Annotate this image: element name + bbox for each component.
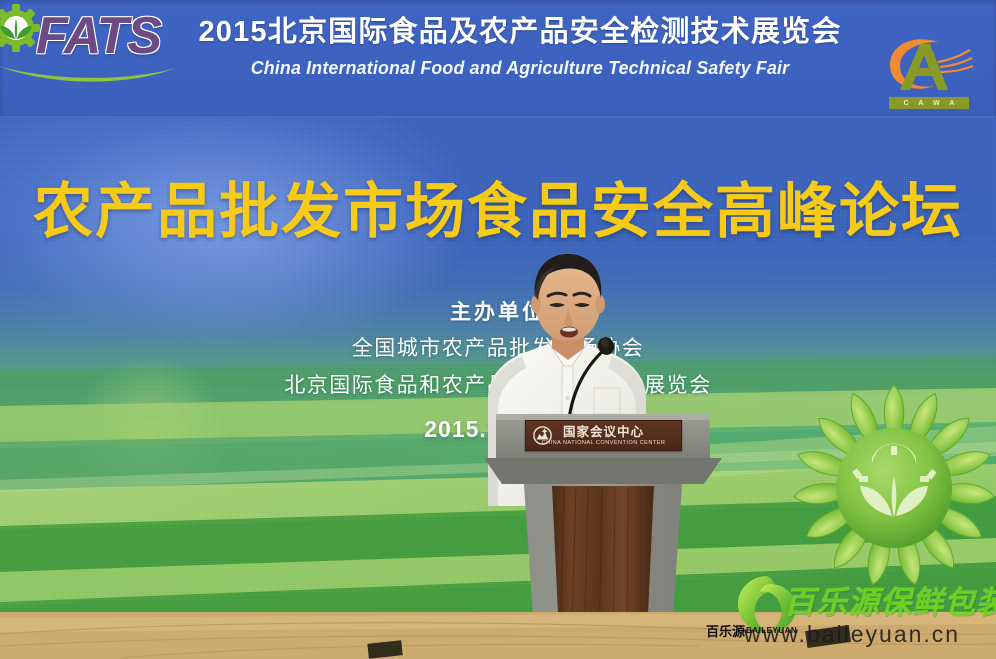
watermark: 百乐源保鲜包装 百乐源 BAILEYUAN www.baileyuan.cn — [706, 576, 996, 654]
conference-photo: 农产品批发市场食品安全高峰论坛 主办单位 全国城市农产品批发市场协会 北京国际食… — [0, 0, 996, 659]
watermark-url: www.baileyuan.cn — [744, 620, 960, 648]
fats-logo: FATS — [0, 0, 178, 112]
event-header-banner: 2015北京国际食品及农产品安全检测技术展览会 China Internatio… — [0, 0, 996, 118]
ccc-logo-icon — [533, 426, 552, 445]
watermark-brand: 百乐源保鲜包装 — [784, 584, 996, 622]
cawa-mark-icon — [880, 36, 980, 103]
fats-swoosh-icon — [0, 62, 178, 88]
cawa-wordmark: C A W A — [889, 97, 969, 109]
fats-wordmark: FATS — [36, 8, 161, 64]
header-title-group: 2015北京国际食品及农产品安全检测技术展览会 China Internatio… — [190, 10, 850, 82]
forum-main-title: 农产品批发市场食品安全高峰论坛 — [0, 175, 996, 249]
podium-plate-en: CHINA NATIONAL CONVENTION CENTER — [542, 439, 666, 447]
cawa-wordmark-text: C A W A — [900, 100, 959, 107]
green-flower-gear-emblem — [788, 380, 996, 592]
header-title-en: China International Food and Agriculture… — [203, 54, 837, 82]
podium-nameplate: 国家会议中心 CHINA NATIONAL CONVENTION CENTER — [525, 420, 682, 451]
podium-plate-cn: 国家会议中心 — [563, 425, 644, 439]
header-title-cn: 2015北京国际食品及农产品安全检测技术展览会 — [190, 10, 850, 54]
watermark-badge-cn: 百乐源 — [706, 624, 745, 639]
cawa-logo: C A W A — [880, 36, 980, 114]
